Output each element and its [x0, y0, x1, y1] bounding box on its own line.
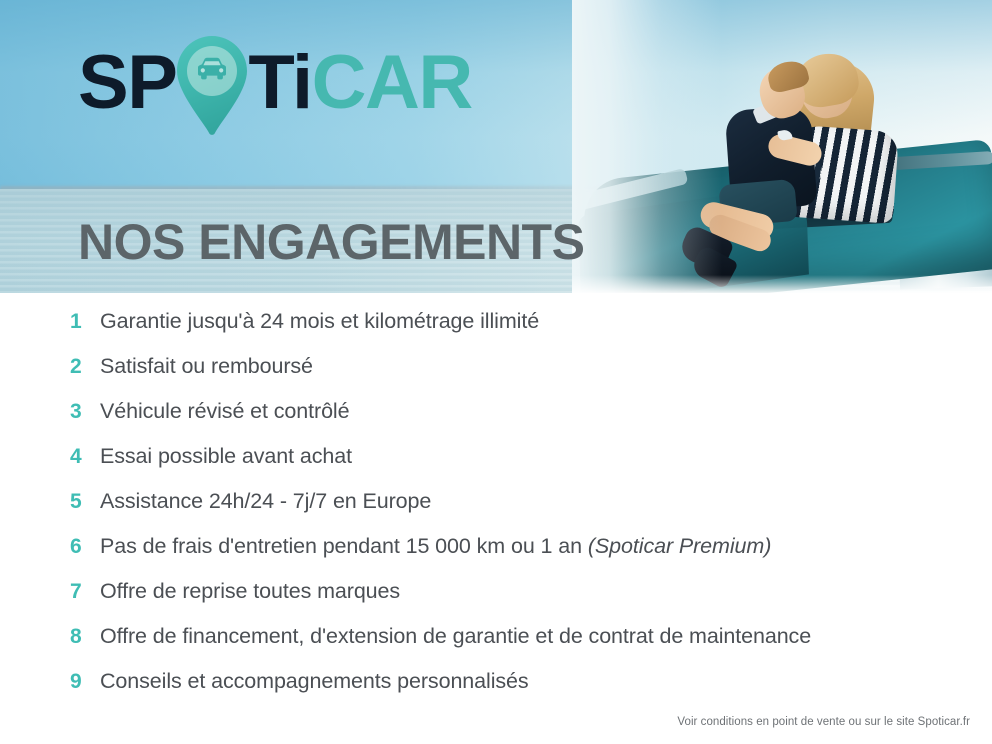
- legal-disclaimer: Voir conditions en point de vente ou sur…: [677, 716, 970, 728]
- list-item-text: Satisfait ou remboursé: [100, 354, 313, 378]
- commitments-list: 1Garantie jusqu'à 24 mois et kilométrage…: [0, 306, 992, 711]
- list-item-label: Garantie jusqu'à 24 mois et kilométrage …: [100, 306, 539, 336]
- page-title: NOS ENGAGEMENTS: [78, 212, 584, 272]
- list-item-number: 3: [70, 397, 100, 427]
- list-item-number: 5: [70, 487, 100, 517]
- list-item-number: 9: [70, 667, 100, 697]
- list-item: 6Pas de frais d'entretien pendant 15 000…: [0, 531, 992, 576]
- photo-composition: [572, 0, 992, 293]
- list-item-text: Assistance 24h/24 - 7j/7 en Europe: [100, 489, 431, 513]
- list-item-text: Essai possible avant achat: [100, 444, 352, 468]
- list-item: 4Essai possible avant achat: [0, 441, 992, 486]
- list-item-text: Garantie jusqu'à 24 mois et kilométrage …: [100, 309, 539, 333]
- list-item-label: Assistance 24h/24 - 7j/7 en Europe: [100, 486, 431, 516]
- list-item: 9Conseils et accompagnements personnalis…: [0, 666, 992, 711]
- list-item-text: Offre de financement, d'extension de gar…: [100, 624, 811, 648]
- list-item: 3Véhicule révisé et contrôlé: [0, 396, 992, 441]
- list-item-label: Véhicule révisé et contrôlé: [100, 396, 349, 426]
- hero-photo-family-on-car: [572, 0, 992, 293]
- list-item: 1Garantie jusqu'à 24 mois et kilométrage…: [0, 306, 992, 351]
- list-item: 8Offre de financement, d'extension de ga…: [0, 621, 992, 666]
- logo-text-ti: Ti: [248, 40, 311, 126]
- list-item-label: Offre de financement, d'extension de gar…: [100, 621, 811, 651]
- list-item-text: Conseils et accompagnements personnalisé…: [100, 669, 529, 693]
- list-item: 5Assistance 24h/24 - 7j/7 en Europe: [0, 486, 992, 531]
- list-item-label: Satisfait ou remboursé: [100, 351, 313, 381]
- list-item-number: 2: [70, 352, 100, 382]
- list-item-number: 1: [70, 307, 100, 337]
- logo-text-sp: SP: [78, 40, 176, 126]
- list-item-number: 8: [70, 622, 100, 652]
- list-item: 2Satisfait ou remboursé: [0, 351, 992, 396]
- list-item-number: 6: [70, 532, 100, 562]
- list-item-label: Pas de frais d'entretien pendant 15 000 …: [100, 531, 771, 561]
- spoticar-commitments-page: SP: [0, 0, 992, 744]
- list-item-text: Offre de reprise toutes marques: [100, 579, 400, 603]
- list-item: 7Offre de reprise toutes marques: [0, 576, 992, 621]
- list-item-number: 7: [70, 577, 100, 607]
- spoticar-logo[interactable]: SP: [78, 40, 472, 126]
- hero-banner: SP: [0, 0, 992, 293]
- map-pin-car-icon: [174, 34, 250, 138]
- list-item-label: Offre de reprise toutes marques: [100, 576, 400, 606]
- list-item-text: Véhicule révisé et contrôlé: [100, 399, 349, 423]
- list-item-number: 4: [70, 442, 100, 472]
- list-item-label: Conseils et accompagnements personnalisé…: [100, 666, 529, 696]
- list-item-text: Pas de frais d'entretien pendant 15 000 …: [100, 534, 588, 558]
- list-item-label: Essai possible avant achat: [100, 441, 352, 471]
- logo-text-car: CAR: [312, 40, 472, 126]
- list-item-note: (Spoticar Premium): [588, 534, 771, 558]
